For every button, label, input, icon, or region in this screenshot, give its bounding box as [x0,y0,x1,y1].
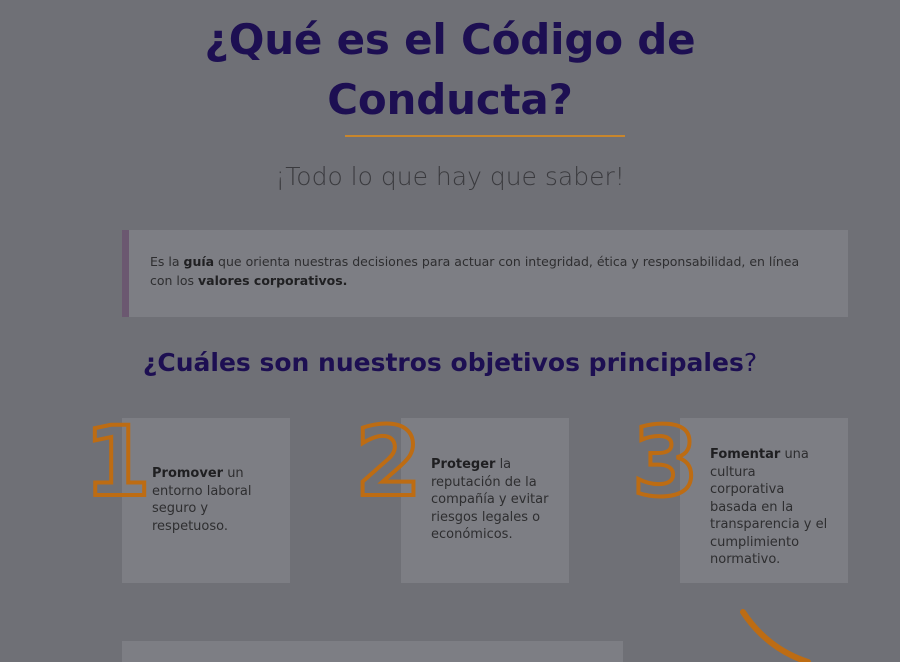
objective-number-3: 3 [632,414,699,510]
page-title-line-2: Conducta? [0,70,900,130]
objective-card-3-body: una cultura corporativa basada en la tra… [710,447,827,567]
objective-card-1-text: Promover un entorno laboral seguro y res… [152,465,274,535]
callout-bold-2: valores corporativos. [198,273,347,288]
orange-curve-decoration [700,595,900,662]
objective-card-3-bold: Fomentar [710,447,780,462]
title-divider [345,135,625,137]
page-subtitle: ¡Todo lo que hay que saber! [0,160,900,194]
objective-card-2-text: Proteger la reputación de la compañía y … [431,456,553,544]
objective-card-2: Proteger la reputación de la compañía y … [401,418,569,583]
section-heading-text: ¿Cuáles son nuestros objetivos principal… [143,348,744,377]
partial-card-below-fold [122,641,623,662]
callout-accent-bar [122,230,129,317]
callout-text: Es la guía que orienta nuestras decision… [150,252,810,290]
objective-card-3: Fomentar una cultura corporativa basada … [680,418,848,583]
page-title-line-1: ¿Qué es el Código de [0,10,900,70]
objective-number-2: 2 [355,414,422,510]
objective-card-2-bold: Proteger [431,457,495,472]
objective-number-1: 1 [84,414,151,510]
objective-card-3-text: Fomentar una cultura corporativa basada … [710,446,832,569]
callout-bold-1: guía [184,254,215,269]
callout-text-part-1: Es la [150,254,184,269]
objective-card-1-bold: Promover [152,466,223,481]
infographic-page: ¿Qué es el Código de Conducta? ¡Todo lo … [0,0,900,662]
section-heading-question-mark: ? [744,348,757,377]
callout-box: Es la guía que orienta nuestras decision… [122,230,848,317]
section-heading: ¿Cuáles son nuestros objetivos principal… [0,348,900,377]
page-title: ¿Qué es el Código de Conducta? [0,10,900,130]
